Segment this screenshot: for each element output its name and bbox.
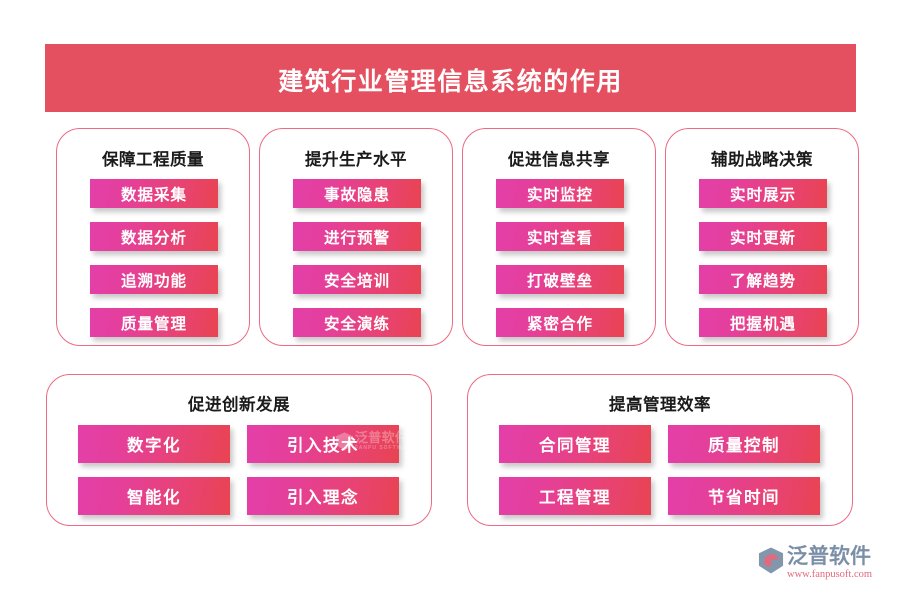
pill-item[interactable]: 实时更新 (699, 222, 827, 251)
pill-item[interactable]: 节省时间 (668, 477, 820, 515)
fanpu-logo-icon (758, 547, 784, 574)
pill-item[interactable]: 合同管理 (499, 425, 651, 463)
card-title: 提高管理效率 (468, 391, 852, 415)
pill-item[interactable]: 安全演练 (293, 308, 421, 337)
pill-item[interactable]: 紧密合作 (496, 308, 624, 337)
pill-item[interactable]: 了解趋势 (699, 265, 827, 294)
infographic-canvas: 建筑行业管理信息系统的作用 保障工程质量 数据采集 数据分析 追溯功能 质量管理… (0, 0, 900, 600)
pill-item[interactable]: 打破壁垒 (496, 265, 624, 294)
pill-item[interactable]: 进行预警 (293, 222, 421, 251)
card-bottom-0: 促进创新发展 数字化 引入技术 智能化 引入理念 (46, 374, 432, 526)
logo-url: www.fanpusoft.com (787, 570, 872, 581)
pill-item[interactable]: 实时展示 (699, 179, 827, 208)
card-title: 促进创新发展 (47, 391, 431, 415)
card-bottom-1: 提高管理效率 合同管理 质量控制 工程管理 节省时间 (467, 374, 853, 526)
pill-item[interactable]: 数字化 (78, 425, 230, 463)
pill-item[interactable]: 质量控制 (668, 425, 820, 463)
pill-item[interactable]: 数据分析 (90, 222, 218, 251)
card-top-1: 提升生产水平 事故隐患 进行预警 安全培训 安全演练 (259, 128, 453, 346)
pill-item[interactable]: 把握机遇 (699, 308, 827, 337)
pill-item[interactable]: 实时监控 (496, 179, 624, 208)
pill-item[interactable]: 安全培训 (293, 265, 421, 294)
pill-item[interactable]: 工程管理 (499, 477, 651, 515)
pill-item[interactable]: 事故隐患 (293, 179, 421, 208)
card-top-2: 促进信息共享 实时监控 实时查看 打破壁垒 紧密合作 (462, 128, 656, 346)
pill-item[interactable]: 引入理念 (247, 477, 399, 515)
logo-name-cn: 泛普软件 (787, 546, 872, 567)
card-top-0: 保障工程质量 数据采集 数据分析 追溯功能 质量管理 (56, 128, 250, 346)
card-title: 提升生产水平 (260, 146, 452, 170)
card-title: 辅助战略决策 (666, 146, 858, 170)
card-top-3: 辅助战略决策 实时展示 实时更新 了解趋势 把握机遇 (665, 128, 859, 346)
pill-item[interactable]: 质量管理 (90, 308, 218, 337)
pill-item[interactable]: 智能化 (78, 477, 230, 515)
brand-logo: 泛普软件 www.fanpusoft.com (758, 546, 872, 581)
page-title: 建筑行业管理信息系统的作用 (278, 70, 623, 95)
pill-item[interactable]: 数据采集 (90, 179, 218, 208)
pill-item[interactable]: 追溯功能 (90, 265, 218, 294)
pill-item[interactable]: 实时查看 (496, 222, 624, 251)
title-banner: 建筑行业管理信息系统的作用 (45, 44, 856, 112)
logo-text-block: 泛普软件 www.fanpusoft.com (787, 546, 872, 581)
pill-item[interactable]: 引入技术 (247, 425, 399, 463)
card-title: 促进信息共享 (463, 146, 655, 170)
card-title: 保障工程质量 (57, 146, 249, 170)
